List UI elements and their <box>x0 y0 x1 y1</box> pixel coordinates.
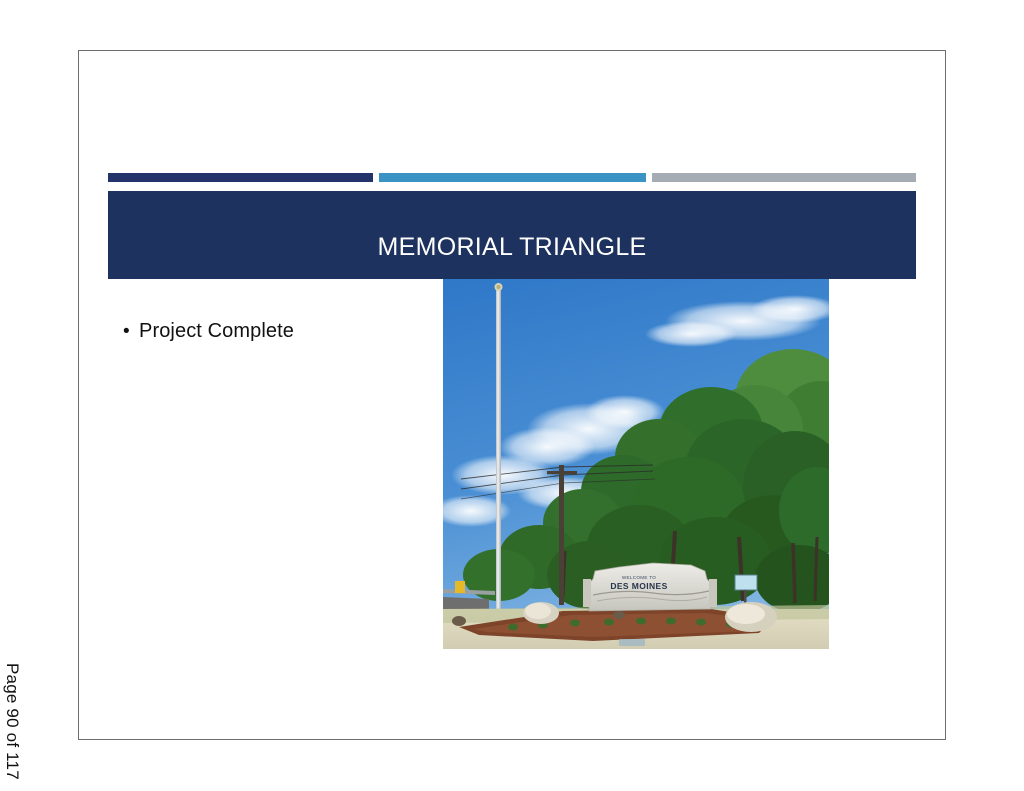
monument-line1: WELCOME TO <box>622 575 656 580</box>
bullet-list: • Project Complete <box>123 319 453 354</box>
accent-bar-navy <box>108 173 373 182</box>
monument-sign: WELCOME TO DES MOINES <box>583 563 717 611</box>
project-photo: WELCOME TO DES MOINES <box>443 279 829 649</box>
accent-bar-blue <box>379 173 646 182</box>
bullet-marker-icon: • <box>123 322 139 341</box>
bullet-label: Project Complete <box>139 319 294 344</box>
monument-line2: DES MOINES <box>610 581 667 591</box>
title-band: MEMORIAL TRIANGLE <box>108 191 916 279</box>
accent-bar-row <box>108 173 916 182</box>
slide-title: MEMORIAL TRIANGLE <box>377 211 646 260</box>
project-photo-illustration: WELCOME TO DES MOINES <box>443 279 829 649</box>
ground-plaque <box>619 639 645 646</box>
list-item: • Project Complete <box>123 319 453 344</box>
page-number: Page 90 of 117 <box>2 663 22 780</box>
slide-frame: MEMORIAL TRIANGLE • Project Complete <box>78 50 946 740</box>
accent-bar-gray <box>652 173 916 182</box>
